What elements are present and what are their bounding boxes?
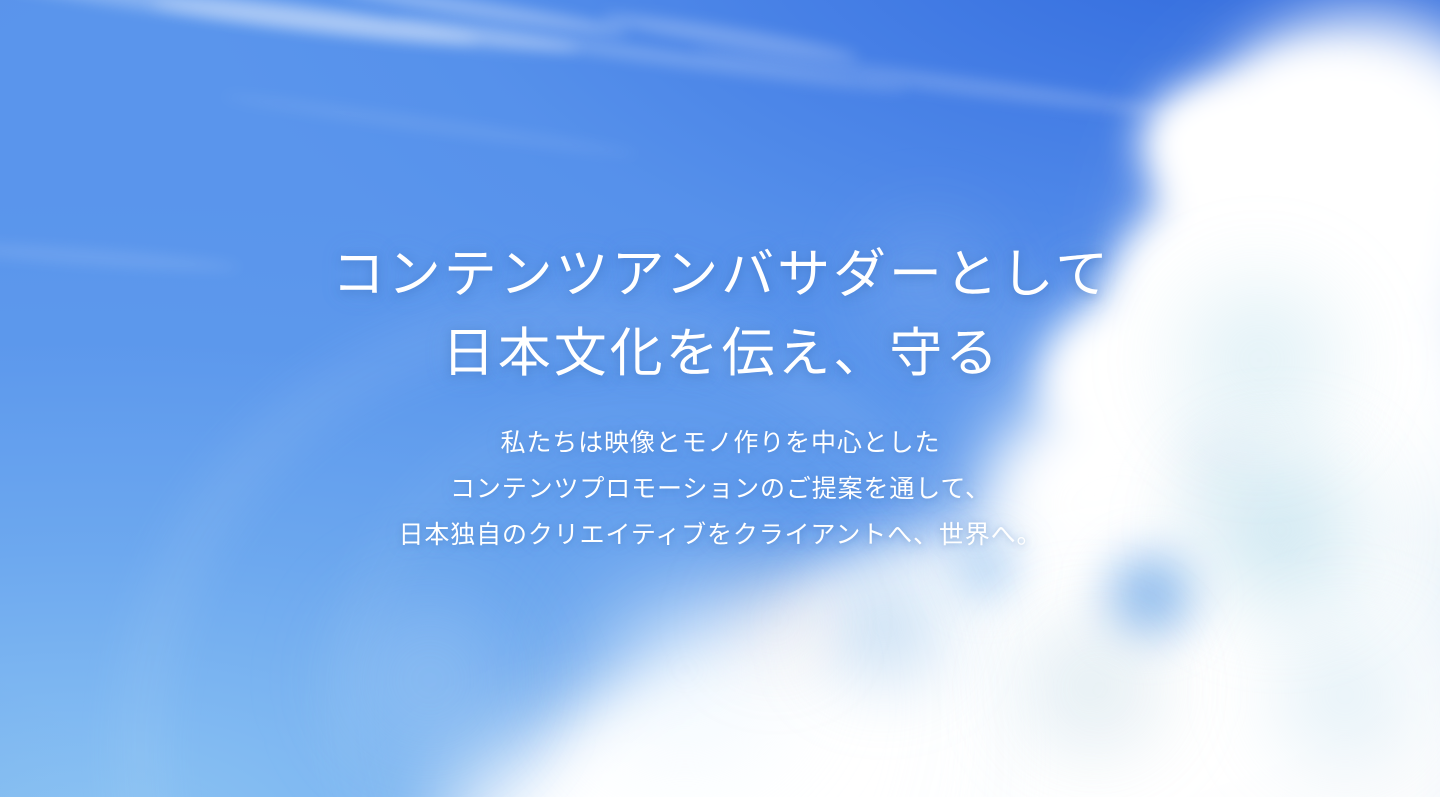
cumulus-cloud (1140, 86, 1270, 196)
subcopy-line-1: 私たちは映像とモノ作りを中心とした (0, 421, 1440, 467)
lens-flare-bloom (300, 560, 560, 797)
headline-line-2: 日本文化を伝え、守る (0, 315, 1440, 394)
hero-headline: コンテンツアンバサダーとして 日本文化を伝え、守る (0, 236, 1440, 394)
headline-line-1: コンテンツアンバサダーとして (0, 236, 1440, 315)
hero-section: コンテンツアンバサダーとして 日本文化を伝え、守る 私たちは映像とモノ作りを中心… (0, 0, 1440, 797)
hero-subcopy: 私たちは映像とモノ作りを中心とした コンテンツプロモーションのご提案を通して、 … (0, 421, 1440, 559)
subcopy-line-2: コンテンツプロモーションのご提案を通して、 (0, 467, 1440, 513)
subcopy-line-3: 日本独自のクリエイティブをクライアントへ、世界へ。 (0, 513, 1440, 559)
lens-flare-bloom (1000, 600, 1200, 780)
